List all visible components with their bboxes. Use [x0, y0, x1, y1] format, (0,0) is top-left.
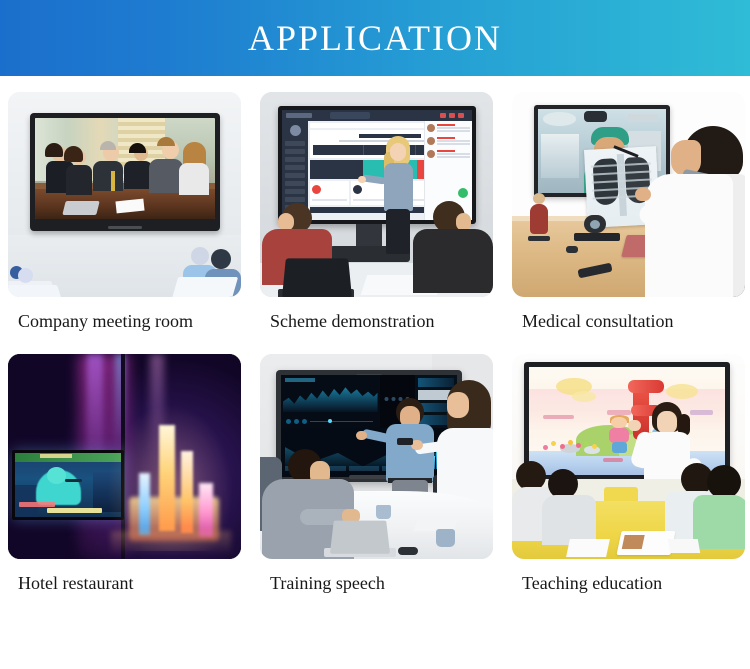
lesson-word-label: [543, 415, 574, 419]
dashboard-search-box: [330, 112, 370, 119]
gallery-item-company-meeting-room[interactable]: Company meeting room: [8, 92, 253, 354]
lesson-flowers: [541, 432, 600, 451]
laptop: [330, 521, 390, 554]
activity-row: [427, 150, 470, 159]
gallery-item-medical-consultation[interactable]: Medical consultation: [512, 92, 750, 354]
gallery-item-caption: Scheme demonstration: [270, 311, 505, 332]
page-title: APPLICATION: [248, 20, 502, 56]
seated-attendee: [407, 201, 493, 293]
application-gallery: Company meeting room: [0, 76, 750, 600]
desk-accessory: [566, 246, 578, 253]
teaching-education-image[interactable]: [512, 354, 745, 559]
chart-panel-waveform: [281, 375, 380, 428]
student: [542, 469, 598, 545]
gallery-item-caption: Hotel restaurant: [18, 573, 253, 594]
lesson-cloud: [572, 391, 596, 402]
page-banner: APPLICATION: [0, 0, 750, 76]
training-speech-image[interactable]: [260, 354, 493, 559]
display-control-bar: [108, 226, 142, 229]
foreground-attendee: [8, 268, 60, 297]
foreground-desk: [172, 277, 238, 297]
dashboard-alert-badge: [458, 113, 464, 118]
activity-row: [427, 124, 470, 133]
metric-card: [310, 181, 349, 205]
sidebar-menu-item: [285, 157, 305, 162]
dashboard-alert-badge: [449, 113, 455, 118]
screen-title-text: [40, 454, 72, 458]
lesson-word-label: [603, 458, 623, 462]
operating-shelf: [628, 114, 659, 122]
dashboard-topbar: [282, 110, 472, 121]
floor-reflection: [111, 531, 231, 555]
open-book: [668, 539, 700, 553]
screen-microphone: [65, 479, 82, 483]
display-screen: [35, 118, 215, 219]
anatomy-model: [528, 193, 550, 239]
screen-person: [66, 150, 92, 195]
gallery-item-caption: Training speech: [270, 573, 505, 594]
gallery-item-caption: Company meeting room: [18, 311, 253, 332]
activity-status-dot: [458, 188, 468, 198]
lesson-character: [607, 417, 631, 454]
sidebar-menu-item: [285, 149, 305, 154]
scheme-demonstration-image[interactable]: [260, 92, 493, 297]
gallery-item-caption: Medical consultation: [522, 311, 750, 332]
wall-display: [30, 113, 220, 231]
open-book: [617, 531, 676, 555]
avatar: [290, 125, 301, 136]
student: [691, 465, 745, 549]
conference-camera: [574, 215, 620, 241]
medical-equipment: [541, 134, 579, 178]
lesson-word-label: [607, 410, 631, 414]
screen-subtitle: [19, 502, 55, 506]
screen-singer-face: [47, 467, 66, 484]
laptop: [282, 258, 352, 297]
sidebar-menu-item: [285, 197, 305, 202]
dashboard-logo: [286, 113, 312, 118]
sidebar-menu-item: [285, 141, 305, 146]
screen-crowd: [15, 485, 38, 517]
sidebar-menu-item: [285, 181, 305, 186]
screen-person: [100, 144, 123, 191]
gallery-item-training-speech[interactable]: Training speech: [260, 354, 505, 600]
gallery-item-caption: Teaching education: [522, 573, 750, 594]
illuminated-castle: [115, 403, 227, 541]
sidebar-menu-item: [285, 173, 305, 178]
sidebar-menu-item: [285, 189, 305, 194]
activity-row: [427, 137, 470, 146]
medical-consultation-image[interactable]: [512, 92, 745, 297]
screen-laptop: [62, 201, 99, 215]
coffee-mug: [436, 529, 455, 547]
company-meeting-room-image[interactable]: [8, 92, 241, 297]
doctor: [639, 126, 745, 297]
gallery-item-teaching-education[interactable]: Teaching education: [512, 354, 750, 600]
screen-subtitle: [47, 508, 102, 513]
status-tile: [310, 160, 363, 179]
operating-monitor: [584, 111, 607, 123]
gallery-item-scheme-demonstration[interactable]: Scheme demonstration: [260, 92, 505, 354]
screen-person: [186, 146, 209, 195]
conference-speakerphone: [398, 547, 418, 555]
sidebar-menu-item: [285, 165, 305, 170]
gallery-item-hotel-restaurant[interactable]: Hotel restaurant: [8, 354, 253, 600]
open-book: [566, 539, 610, 557]
hotel-restaurant-image[interactable]: [8, 354, 241, 559]
coffee-mug: [376, 505, 391, 519]
operating-light: [543, 112, 576, 125]
dashboard-alert-badge: [440, 113, 446, 118]
